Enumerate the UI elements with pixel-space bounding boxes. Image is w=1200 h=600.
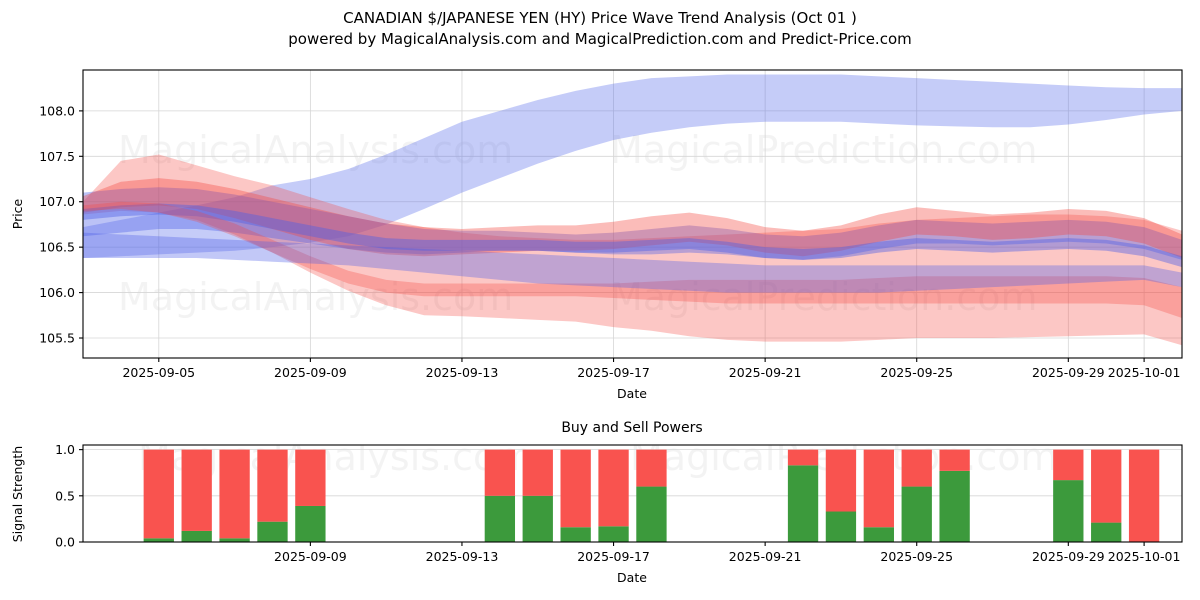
bar-sell bbox=[561, 450, 591, 528]
bar-buy bbox=[598, 526, 628, 542]
price-chart: MagicalAnalysis.com MagicalPrediction.co… bbox=[10, 70, 1182, 401]
bar-buy bbox=[636, 487, 666, 542]
xtick-label: 2025-09-25 bbox=[880, 549, 953, 564]
xtick-label: 2025-09-09 bbox=[274, 549, 347, 564]
bar-sell bbox=[1129, 450, 1159, 542]
ytick-label: 106.0 bbox=[39, 285, 75, 300]
bar-buy bbox=[523, 496, 553, 542]
bar-sell bbox=[257, 450, 287, 522]
xtick-label: 2025-10-01 bbox=[1108, 365, 1181, 380]
xtick-label: 2025-09-29 bbox=[1032, 549, 1105, 564]
bar-sell bbox=[598, 450, 628, 527]
bar-buy bbox=[939, 471, 969, 542]
ytick-label: 108.0 bbox=[39, 103, 75, 118]
ytick-label: 107.5 bbox=[39, 149, 75, 164]
bar-sell bbox=[1091, 450, 1121, 523]
bar-sell bbox=[939, 450, 969, 471]
ytick-label: 0.0 bbox=[55, 535, 75, 550]
ytick-label: 107.0 bbox=[39, 194, 75, 209]
bar-sell bbox=[295, 450, 325, 506]
bar-buy bbox=[182, 531, 212, 542]
price-yaxis-label: Price bbox=[10, 198, 25, 229]
bar-sell bbox=[636, 450, 666, 487]
watermark-prediction: MagicalPrediction.com bbox=[610, 128, 1038, 172]
xtick-label: 2025-09-17 bbox=[577, 549, 650, 564]
xtick-label: 2025-09-25 bbox=[880, 365, 953, 380]
xtick-label: 2025-09-13 bbox=[426, 365, 499, 380]
bar-buy bbox=[1053, 480, 1083, 542]
powers-xaxis-label: Date bbox=[617, 570, 647, 585]
xtick-label: 2025-09-05 bbox=[122, 365, 195, 380]
xtick-label: 2025-09-21 bbox=[729, 365, 802, 380]
bar-sell bbox=[219, 450, 249, 539]
chart-page: CANADIAN $/JAPANESE YEN (HY) Price Wave … bbox=[0, 0, 1200, 600]
xtick-label: 2025-09-29 bbox=[1032, 365, 1105, 380]
bar-buy bbox=[144, 538, 174, 542]
powers-yaxis-label: Signal Strength bbox=[10, 446, 25, 542]
xtick-label: 2025-10-01 bbox=[1108, 549, 1181, 564]
ytick-label: 105.5 bbox=[39, 331, 75, 346]
bar-sell bbox=[182, 450, 212, 531]
bar-buy bbox=[257, 522, 287, 542]
bar-buy bbox=[864, 527, 894, 542]
bar-sell bbox=[788, 450, 818, 466]
bar-buy bbox=[1091, 523, 1121, 542]
xtick-label: 2025-09-21 bbox=[729, 549, 802, 564]
xtick-label: 2025-09-09 bbox=[274, 365, 347, 380]
powers-chart: Buy and Sell Powers MagicalAnalysis.com … bbox=[10, 420, 1182, 585]
bar-sell bbox=[1053, 450, 1083, 480]
ytick-label: 0.5 bbox=[55, 488, 75, 503]
bar-buy bbox=[295, 506, 325, 542]
price-xaxis-label: Date bbox=[617, 386, 647, 401]
bar-buy bbox=[485, 496, 515, 542]
charts-root: MagicalAnalysis.com MagicalPrediction.co… bbox=[0, 0, 1200, 600]
bar-buy bbox=[902, 487, 932, 542]
bar-buy bbox=[219, 538, 249, 542]
bar-buy bbox=[788, 465, 818, 542]
bar-sell bbox=[826, 450, 856, 512]
xtick-label: 2025-09-13 bbox=[426, 549, 499, 564]
powers-title: Buy and Sell Powers bbox=[561, 420, 702, 436]
bar-sell bbox=[485, 450, 515, 496]
ytick-label: 1.0 bbox=[55, 442, 75, 457]
bar-buy bbox=[826, 512, 856, 542]
ytick-label: 106.5 bbox=[39, 240, 75, 255]
bar-sell bbox=[523, 450, 553, 496]
bar-sell bbox=[902, 450, 932, 487]
xtick-label: 2025-09-17 bbox=[577, 365, 650, 380]
bar-sell bbox=[864, 450, 894, 528]
bar-sell bbox=[144, 450, 174, 539]
bar-buy bbox=[561, 527, 591, 542]
